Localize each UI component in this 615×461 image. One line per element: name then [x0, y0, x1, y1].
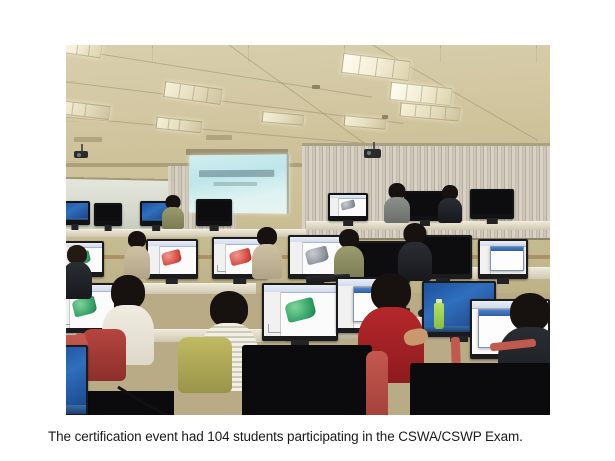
ceiling-projector-left — [74, 151, 88, 158]
monitor-mid — [146, 239, 198, 279]
student-mid — [252, 227, 282, 279]
chair-foreground-right — [366, 351, 388, 415]
ceiling-vent — [382, 115, 388, 119]
monitor-far — [470, 189, 514, 219]
monitor-far — [196, 199, 232, 226]
cable — [116, 385, 266, 415]
monitor-foreground-left — [66, 345, 88, 415]
slide-subtitle-line — [214, 182, 257, 186]
ceiling-vent — [206, 135, 232, 140]
student-far — [438, 185, 462, 223]
student-mid — [124, 231, 150, 279]
classroom-photo — [66, 45, 550, 415]
ceiling-vent — [312, 85, 320, 89]
chair-red — [82, 329, 126, 381]
ceiling-projector-right — [364, 149, 381, 158]
slide-canvas: The certification event had 104 students… — [0, 0, 615, 461]
photo-caption: The certification event had 104 students… — [48, 428, 578, 446]
water-bottle — [434, 303, 444, 329]
monitor-mid — [478, 239, 528, 279]
student-far — [384, 183, 410, 223]
monitor-far — [328, 193, 368, 221]
student-far — [162, 195, 184, 229]
student-edge-left — [66, 245, 92, 299]
monitor-back-foreground — [410, 363, 550, 415]
monitor-near — [262, 283, 338, 341]
ceiling-vent — [74, 137, 102, 142]
monitor-far — [66, 201, 90, 225]
monitor-far — [94, 203, 122, 226]
slide-title-line — [199, 170, 275, 177]
